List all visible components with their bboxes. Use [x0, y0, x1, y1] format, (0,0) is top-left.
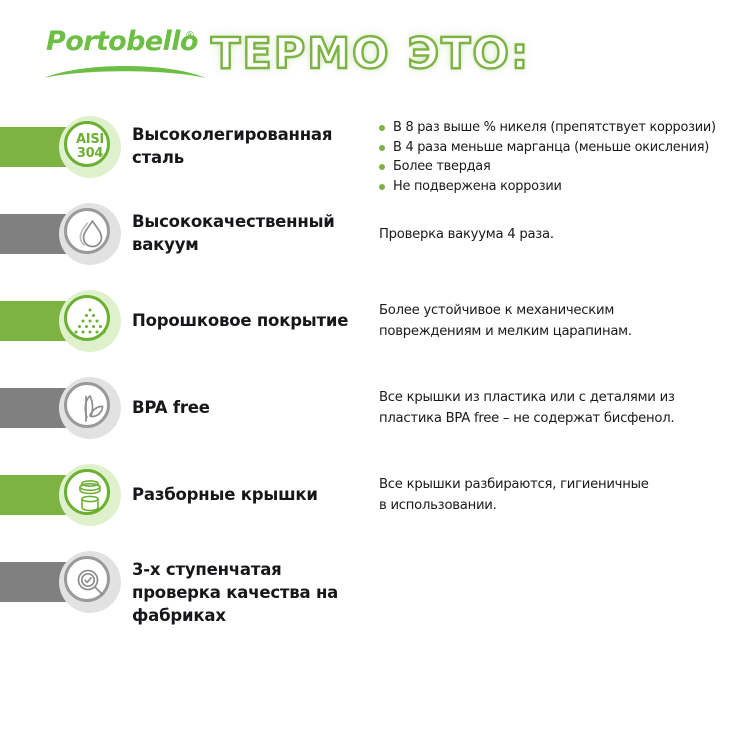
- bullet-dot-icon: [379, 125, 385, 131]
- list-item-label: В 4 раза меньше марганца (меньше окислен…: [393, 140, 709, 155]
- row-badge: AISI 304: [64, 121, 116, 173]
- headline-block: ТЕРМО ЭТО:: [211, 22, 541, 86]
- feature-row-steel: AISI 304 Высоколегированная сталь В 8 ра…: [0, 110, 750, 196]
- row-badge: [64, 208, 116, 260]
- page-title: ТЕРМО ЭТО:: [211, 22, 541, 86]
- aisi-304-badge-icon: AISI 304: [64, 121, 116, 173]
- feature-row-lids: Разборные крышки Все крышки разбираются,…: [0, 458, 750, 544]
- row-body: Проверка вакуума 4 раза.: [379, 197, 750, 245]
- row-body: Все крышки разбираются, гигиеничные в ис…: [379, 458, 750, 516]
- page-header: Portobello ® ТЕРМО ЭТО:: [0, 0, 750, 110]
- list-item-label: Не подвержена коррозии: [393, 179, 562, 194]
- feature-row-powder-coating: Порошковое покрытие Более устойчивое к м…: [0, 284, 750, 370]
- row-badge: [64, 556, 116, 608]
- row-body: Более устойчивое к механическим поврежде…: [379, 284, 750, 342]
- bullet-dot-icon: [379, 164, 385, 170]
- row-title: Высококачественный вакуум: [132, 197, 372, 256]
- list-item: В 4 раза меньше марганца (меньше окислен…: [379, 138, 750, 158]
- row-body-line-1: Более устойчивое к механическим: [379, 300, 750, 321]
- magnifier-check-icon: [64, 556, 116, 608]
- powder-dots-icon: [64, 295, 116, 347]
- feature-row-vacuum: Высококачественный вакуум Проверка вакуу…: [0, 197, 750, 283]
- water-drop-icon: [64, 208, 116, 260]
- row-badge: [64, 295, 116, 347]
- logo-wordmark: Portobello: [46, 26, 198, 57]
- list-item: В 8 раз выше % никеля (препятствует корр…: [379, 118, 750, 138]
- badge-line-2: 304: [77, 147, 103, 161]
- row-title: Разборные крышки: [132, 458, 372, 506]
- row-body-line-2: в использовании.: [379, 495, 750, 516]
- list-item: Не подвержена коррозии: [379, 177, 750, 197]
- row-body-line-1: Все крышки разбираются, гигиеничные: [379, 474, 750, 495]
- row-title: Высоколегированная сталь: [132, 110, 372, 169]
- bullet-dot-icon: [379, 184, 385, 190]
- row-body-line-2: повреждениям и мелким царапинам.: [379, 321, 750, 342]
- row-body: [379, 545, 750, 572]
- row-title: BPA free: [132, 371, 372, 419]
- row-body: В 8 раз выше % никеля (препятствует корр…: [379, 110, 750, 196]
- row-badge: [64, 382, 116, 434]
- leaf-icon: [64, 382, 116, 434]
- row-title: 3-х ступенчатая проверка качества на фаб…: [132, 545, 372, 627]
- feature-row-bpa-free: BPA free Все крышки из пластика или с де…: [0, 371, 750, 457]
- row-body: Все крышки из пластика или с деталями из…: [379, 371, 750, 429]
- list-item-label: В 8 раз выше % никеля (препятствует корр…: [393, 120, 716, 135]
- portobello-swoosh-icon: [42, 58, 208, 80]
- bullet-dot-icon: [379, 145, 385, 151]
- list-item: Более твердая: [379, 157, 750, 177]
- lid-icon: [64, 469, 116, 521]
- portobello-logo: Portobello ®: [46, 26, 206, 84]
- row-badge: [64, 469, 116, 521]
- row-body-line-1: Все крышки из пластика или с деталями из: [379, 387, 750, 408]
- row-title: Порошковое покрытие: [132, 284, 372, 332]
- registered-trademark-icon: ®: [185, 30, 195, 41]
- badge-line-1: AISI: [76, 133, 104, 147]
- row-body-line-2: пластика BPA free – не содержат бисфенол…: [379, 408, 750, 429]
- feature-row-quality-check: 3-х ступенчатая проверка качества на фаб…: [0, 545, 750, 631]
- list-item-label: Более твердая: [393, 159, 490, 174]
